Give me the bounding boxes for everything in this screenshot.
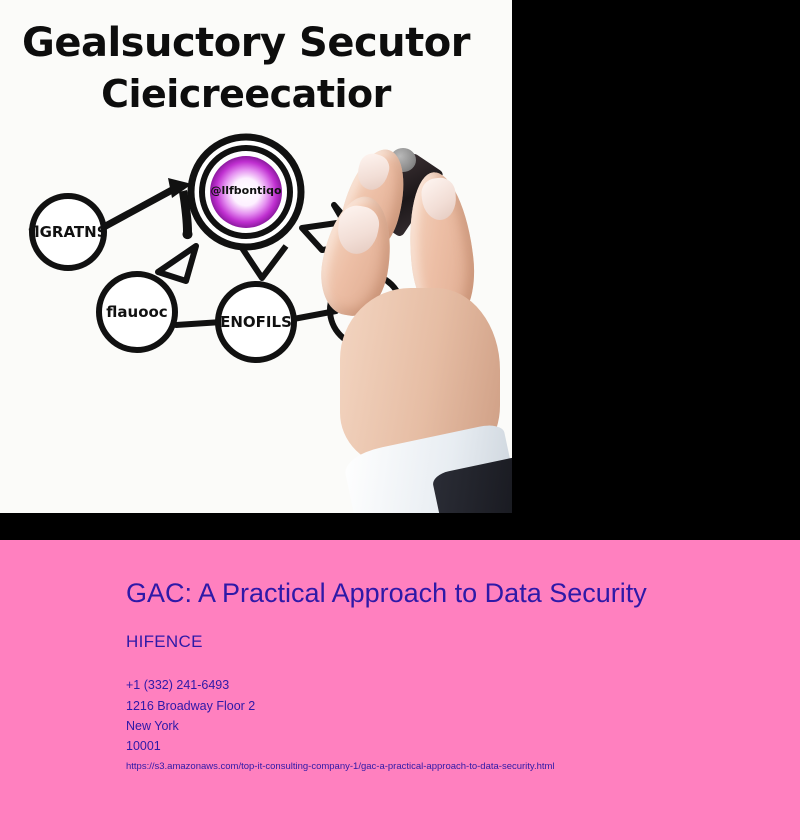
hand-holding-marker [318, 120, 512, 513]
arrow-lowerleft-to-center [158, 246, 196, 281]
contact-phone[interactable]: +1 (332) 241-6493 [126, 678, 229, 692]
brand-name: HIFENCE [126, 632, 203, 652]
diagram-node-lower-left [99, 274, 175, 350]
diagram-node-left [32, 196, 104, 268]
page-title: GAC: A Practical Approach to Data Securi… [126, 578, 666, 609]
diagram-center-node [191, 137, 301, 247]
media-panel: Gealsuctory Secutor Cieicreecatior [0, 0, 800, 540]
diagram-node-bottom [218, 284, 294, 360]
contact-city: New York [126, 719, 179, 733]
source-url-link[interactable]: https://s3.amazonaws.com/top-it-consulti… [126, 761, 555, 772]
contact-street: 1216 Broadway Floor 2 [126, 699, 255, 713]
contact-zip: 10001 [126, 739, 161, 753]
whiteboard-photo: Gealsuctory Secutor Cieicreecatior [0, 0, 512, 513]
